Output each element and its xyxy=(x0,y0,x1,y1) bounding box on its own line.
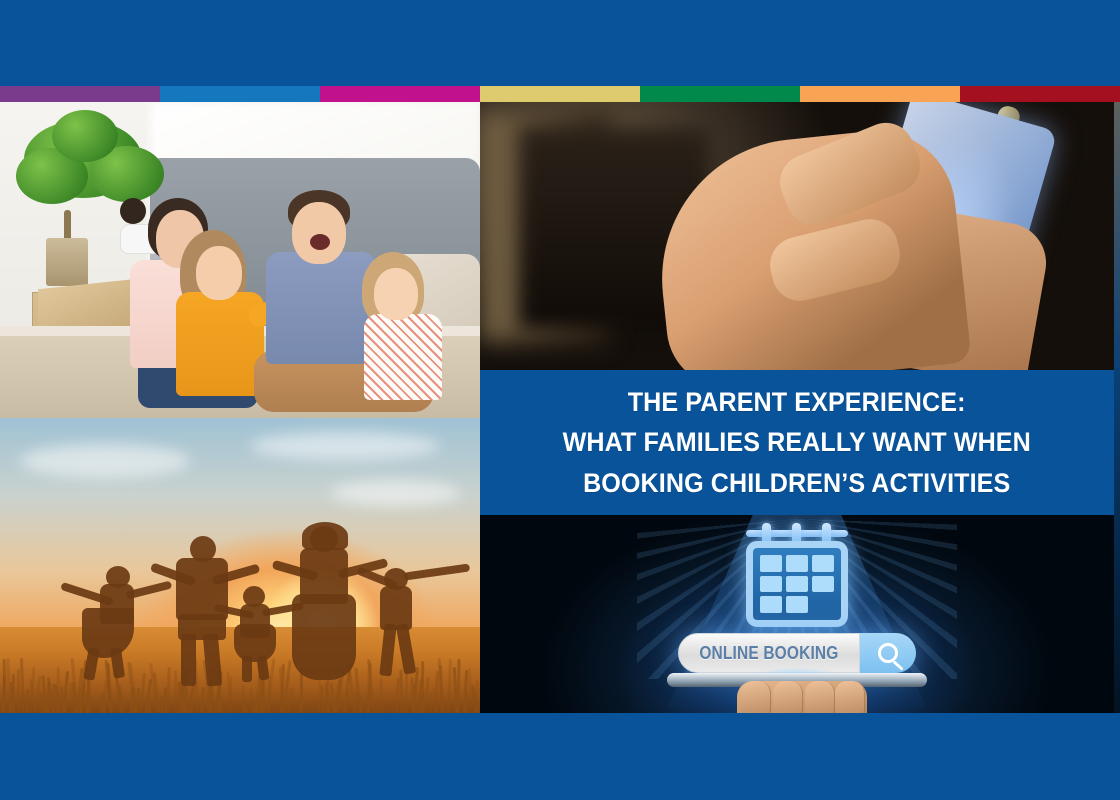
grass-blade xyxy=(106,679,113,713)
figure-toddler xyxy=(348,252,468,418)
title-line-3: BOOKING CHILDREN’S ACTIVITIES xyxy=(583,464,1010,502)
calendar-day-cell-empty xyxy=(812,596,834,613)
color-swatch-purple xyxy=(0,86,160,102)
grass-blade xyxy=(405,671,408,713)
grass-blade xyxy=(200,687,205,713)
collage-right-edge xyxy=(1114,102,1120,713)
poster-canvas: THE PARENT EXPERIENCE: WHAT FAMILIES REA… xyxy=(0,0,1120,800)
calendar-day-cell xyxy=(760,596,782,613)
search-input-text: ONLINE BOOKING xyxy=(699,643,838,664)
grass-blade xyxy=(84,690,88,713)
photo-family-sunset xyxy=(0,418,480,713)
calendar-day-cell xyxy=(760,555,782,572)
girl-head xyxy=(196,246,242,300)
grass-blade xyxy=(51,683,54,713)
calendar-grid xyxy=(760,555,834,613)
photo-family-indoor xyxy=(0,102,480,418)
grass-blade xyxy=(164,687,167,713)
grass-blade xyxy=(25,689,29,713)
plant-pot xyxy=(46,238,88,286)
color-swatch-blue xyxy=(160,86,320,102)
grass-blade xyxy=(447,659,452,713)
calendar-body xyxy=(746,541,848,627)
grass-blade xyxy=(228,677,231,713)
title-band: THE PARENT EXPERIENCE: WHAT FAMILIES REA… xyxy=(480,370,1114,515)
grass-blade xyxy=(412,683,416,713)
title-line-1: THE PARENT EXPERIENCE: xyxy=(628,383,966,421)
calendar-day-cell xyxy=(812,576,834,593)
color-swatch-yellow xyxy=(480,86,640,102)
grass-blade xyxy=(167,667,171,713)
toddler-head xyxy=(374,268,418,320)
finger xyxy=(741,681,771,713)
mother-hair-bun xyxy=(120,198,146,224)
grass-blade xyxy=(20,658,25,713)
finger xyxy=(805,681,835,713)
search-button[interactable] xyxy=(860,633,916,673)
photo-online-booking: ONLINE BOOKING xyxy=(480,515,1114,713)
calendar-day-cell xyxy=(812,555,834,572)
color-swatch-red xyxy=(960,86,1120,102)
grass-blade xyxy=(17,669,20,713)
grass-blade xyxy=(400,670,404,713)
accent-color-strip xyxy=(0,86,1120,102)
calendar-icon xyxy=(742,523,852,627)
grass-blade xyxy=(134,700,137,713)
grass-blade xyxy=(380,678,384,713)
calendar-day-cell xyxy=(786,576,808,593)
title-line-2: WHAT FAMILIES REALLY WANT WHEN xyxy=(563,423,1031,461)
cloud xyxy=(20,444,190,478)
grass-blade xyxy=(2,659,6,713)
father-head xyxy=(292,202,346,264)
color-swatch-orange xyxy=(800,86,960,102)
grass-blade xyxy=(147,701,150,713)
image-collage: THE PARENT EXPERIENCE: WHAT FAMILIES REA… xyxy=(0,102,1114,713)
grass-blade xyxy=(395,678,400,713)
calendar-day-cell xyxy=(786,596,808,613)
color-swatch-magenta xyxy=(320,86,480,102)
toddler-dress xyxy=(364,314,442,400)
grass-blade xyxy=(334,697,337,713)
father-mouth xyxy=(310,234,330,250)
grass-blade xyxy=(297,698,301,713)
grass-blade xyxy=(241,685,245,713)
grass-blade xyxy=(429,692,433,713)
photo-phone-in-hands xyxy=(480,102,1114,370)
finger xyxy=(835,681,865,713)
cloud xyxy=(250,432,440,460)
calendar-day-cell xyxy=(786,555,808,572)
finger xyxy=(773,681,803,713)
calendar-day-cell xyxy=(760,576,782,593)
grass-blade xyxy=(39,692,42,713)
search-icon xyxy=(878,643,898,663)
cloud xyxy=(330,480,460,506)
holding-hand xyxy=(737,681,867,713)
plant-foliage xyxy=(52,110,118,162)
color-swatch-green xyxy=(640,86,800,102)
